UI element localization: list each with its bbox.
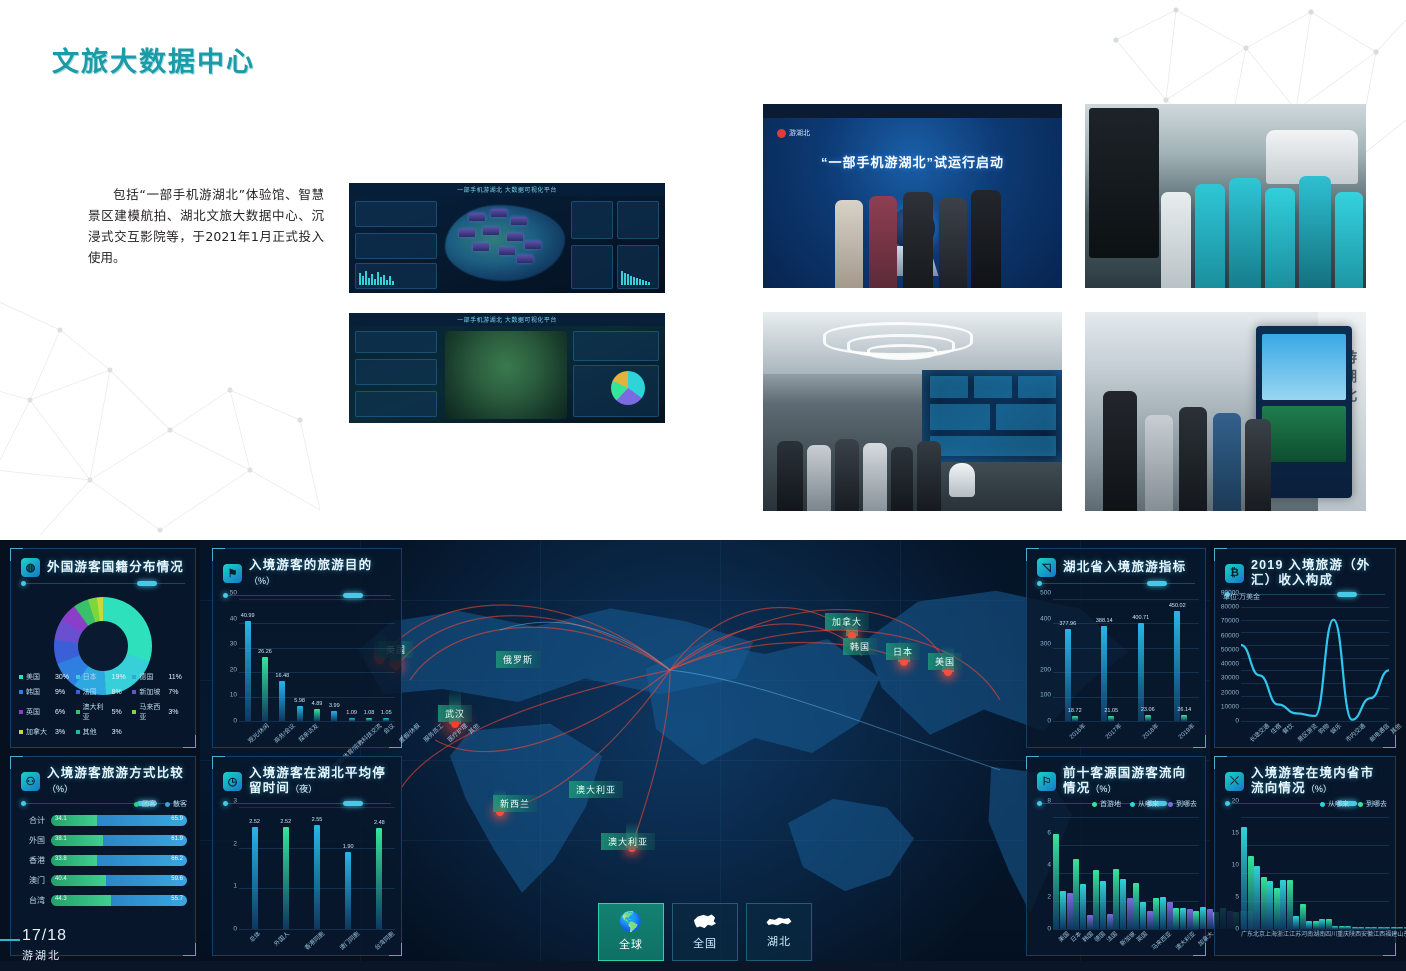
bar-column: 450.0226.14 xyxy=(1174,599,1187,721)
y-tick: 100 xyxy=(1040,692,1051,699)
y-tick: 0 xyxy=(233,718,237,725)
bar-value: 23.06 xyxy=(1141,707,1155,713)
y-tick: 0 xyxy=(1235,718,1239,725)
robot-guide xyxy=(949,463,975,497)
y-tick: 0 xyxy=(233,926,237,933)
bar-segment-san: 65.9 xyxy=(97,815,187,826)
photo-launch-ceremony: 游湖北 “一部手机游湖北”试运行启动 xyxy=(763,104,1062,288)
legend-item: 澳大利亚5% xyxy=(76,702,133,722)
bar-value: 21.05 xyxy=(1104,708,1118,714)
y-axis: 01020304050 xyxy=(213,593,239,721)
legend-item: 日本19% xyxy=(76,672,133,682)
globe-icon: 🌎 xyxy=(619,913,644,932)
panel-header: ◷入境游客在湖北平均停留时间（夜） xyxy=(213,757,401,797)
panel-body: 0102030405040.9926.2616.485.984.893.991.… xyxy=(213,593,401,743)
bar xyxy=(1060,891,1066,929)
legend-item: 法国8% xyxy=(76,687,133,697)
x-tick: 浙江 xyxy=(1277,929,1289,951)
bar xyxy=(1254,866,1260,929)
bar-column: 40.99 xyxy=(245,599,251,721)
chart-legend: 从哪来到哪去 xyxy=(1320,799,1387,809)
bar-column xyxy=(1241,817,1254,929)
legend-item: 英国6% xyxy=(19,702,76,722)
globe-users-icon: ◍ xyxy=(21,558,40,577)
legend-item: 马来西亚3% xyxy=(132,702,189,722)
stacked-bar: 34.165.9 xyxy=(51,815,187,826)
x-tick: 福建 xyxy=(1385,929,1397,951)
row-label: 合计 xyxy=(19,815,45,826)
bar-column: 26.26 xyxy=(262,599,268,721)
x-tick: 2017年 xyxy=(1103,721,1132,750)
thumb-panel xyxy=(571,201,613,239)
bar xyxy=(1241,827,1247,929)
person-walk-icon: ⚐ xyxy=(1037,772,1056,791)
plot-area xyxy=(1241,607,1389,721)
bar xyxy=(1138,623,1144,721)
y-tick: 15 xyxy=(1232,830,1239,837)
body-paragraph: 包括“一部手机游湖北”体验馆、智慧景区建模航拍、湖北文旅大数据中心、沉浸式交互影… xyxy=(88,184,324,268)
panel-title-unit: （%） xyxy=(1306,784,1332,794)
dashboard-region: 俄罗斯英国武汉新西兰澳大利亚澳大利亚韩国日本加拿大美国 🌎全球全国湖北 ◍外国游… xyxy=(0,540,1406,971)
x-tick: 四川 xyxy=(1325,929,1337,951)
x-tick: 广东 xyxy=(1241,929,1253,951)
x-tick: 山东 xyxy=(1397,929,1406,951)
bar-column: 5.98 xyxy=(297,599,303,721)
y-tick: 30000 xyxy=(1221,675,1239,682)
legend-item: 到哪去 xyxy=(1358,799,1387,809)
panel-inbound-income-composition: ₿2019 入境旅游（外汇）收入构成单位:万美金0100002000030000… xyxy=(1214,548,1396,748)
bar-column xyxy=(1267,817,1280,929)
y-tick: 40 xyxy=(230,615,237,622)
bar-value: 5.98 xyxy=(294,698,305,704)
hubei-map-icon xyxy=(766,916,792,929)
panel-header: ◹湖北省入境旅游指标 xyxy=(1027,549,1205,577)
thumb-panel xyxy=(355,201,437,227)
bar-column xyxy=(1093,817,1113,929)
map-tab-全国[interactable]: 全国 xyxy=(672,903,738,961)
y-tick: 3 xyxy=(233,798,237,805)
bar-group xyxy=(1053,817,1199,929)
chart-legend: 团客散客 xyxy=(134,799,187,809)
legend-item: 到哪去 xyxy=(1168,799,1197,809)
bar-column xyxy=(1345,817,1358,929)
y-tick: 200 xyxy=(1040,666,1051,673)
panel-hubei-inbound-index: ◹湖北省入境旅游指标0100200300400500377.9618.72388… xyxy=(1026,548,1206,748)
map-label: 加拿大 xyxy=(825,613,869,630)
bar-column: 1.09 xyxy=(349,599,355,721)
bar xyxy=(1073,859,1079,929)
bar xyxy=(283,827,289,929)
bar xyxy=(331,711,337,721)
x-axis: 美国日本韩国德国法国新加坡英国马来西亚澳大利亚加拿大 xyxy=(1053,929,1199,951)
bar xyxy=(1200,907,1206,929)
x-axis: 总体外国人香港同胞澳门同胞台湾同胞 xyxy=(239,929,395,951)
panel-nationality-donut: ◍外国游客国籍分布情况美国30%日本19%德国11%韩国9%法国8%新加坡7%英… xyxy=(10,548,196,748)
legend-item: 团客 xyxy=(134,799,156,809)
bar-value: 16.48 xyxy=(275,673,289,679)
bar xyxy=(1100,881,1106,929)
chart-legend: 首游地从哪来到哪去 xyxy=(1092,799,1197,809)
bar-column xyxy=(1193,817,1213,929)
bar-column: 2.55 xyxy=(314,807,320,929)
x-tick: 湖南 xyxy=(1313,929,1325,951)
plot-area xyxy=(1241,817,1389,929)
thumb-title: 一部手机游湖北 大数据可视化平台 xyxy=(457,315,557,324)
x-tick: 总体 xyxy=(247,929,271,953)
y-tick: 400 xyxy=(1040,615,1051,622)
stacked-bar: 40.459.6 xyxy=(51,875,187,886)
map-label: 日本 xyxy=(886,643,920,660)
map-tab-全球[interactable]: 🌎全球 xyxy=(598,903,664,961)
thumb-panel xyxy=(355,331,437,353)
plot-area: 2.522.522.551.902.48 xyxy=(239,807,395,929)
bar-value: 18.72 xyxy=(1068,708,1082,714)
thumb-scenic-render xyxy=(445,331,567,419)
plot-area: 40.9926.2616.485.984.893.991.091.081.05 xyxy=(239,599,395,721)
panel-title: 外国游客国籍分布情况 xyxy=(47,560,184,575)
bar xyxy=(1080,884,1086,929)
x-tick: 河南 xyxy=(1301,929,1313,951)
panel-domestic-province-flow: ⤬入境游客在境内省市流向情况（%）从哪来到哪去05101520广东北京上海浙江江… xyxy=(1214,756,1396,956)
y-tick: 10 xyxy=(1232,862,1239,869)
row-label: 香港 xyxy=(19,855,45,866)
bar xyxy=(297,706,303,721)
dashboard-screenshot-2: 一部手机游湖北 大数据可视化平台 xyxy=(349,313,665,423)
panel-title: 入境游客旅游方式比较（%） xyxy=(47,766,185,797)
bar-column: 1.05 xyxy=(383,599,389,721)
bar-column xyxy=(1173,817,1193,929)
bar xyxy=(1267,881,1273,929)
people-icon: ⚇ xyxy=(21,772,40,791)
panel-body: 0100200300400500377.9618.72388.1421.0540… xyxy=(1027,593,1205,743)
bar xyxy=(1174,611,1180,721)
map-label: 武汉 xyxy=(438,705,472,722)
panel-header: ⤬入境游客在境内省市流向情况（%） xyxy=(1215,757,1395,797)
photo-visitors-group xyxy=(1085,104,1366,288)
x-tick: 外国人 xyxy=(272,929,300,957)
y-tick: 70000 xyxy=(1221,618,1239,625)
bar-value: 2.52 xyxy=(280,819,291,825)
x-tick: 陕西 xyxy=(1349,929,1361,951)
legend-item: 新加坡7% xyxy=(132,687,189,697)
panel-body: 01232.522.522.551.902.48总体外国人香港同胞澳门同胞台湾同… xyxy=(213,801,401,951)
panel-divider xyxy=(1037,583,1195,584)
legend-item: 美国30% xyxy=(19,672,76,682)
map-tab-湖北[interactable]: 湖北 xyxy=(746,903,812,961)
thumb-pie xyxy=(611,371,645,405)
bar-value: 4.89 xyxy=(312,701,323,707)
bar-value: 1.05 xyxy=(381,710,392,716)
thumb-title: 一部手机游湖北 大数据可视化平台 xyxy=(457,185,557,194)
bar-column xyxy=(1053,817,1073,929)
y-axis: 05101520 xyxy=(1215,801,1241,929)
y-tick: 40000 xyxy=(1221,661,1239,668)
bar-segment-tuan: 33.8 xyxy=(51,855,97,866)
y-tick: 8 xyxy=(1047,798,1051,805)
row-label: 台湾 xyxy=(19,895,45,906)
x-axis: 2016年2017年2018年2019年 xyxy=(1053,721,1199,743)
photo-kiosk-demo: 游湖北 xyxy=(1085,312,1366,511)
bar-value: 2.55 xyxy=(312,817,323,823)
bar xyxy=(314,709,320,721)
map-scope-tabs[interactable]: 🌎全球全国湖北 xyxy=(598,903,812,961)
page-title: 文旅大数据中心 xyxy=(52,40,255,79)
panel-travel-mode-compare: ⚇入境游客旅游方式比较（%）团客散客合计34.165.9外国38.161.9香港… xyxy=(10,756,196,956)
bar xyxy=(1101,626,1107,721)
bar xyxy=(1093,870,1099,929)
map-label: 澳大利亚 xyxy=(601,833,655,850)
panel-title-unit: （%） xyxy=(1090,784,1116,794)
bottom-strip xyxy=(0,961,1406,971)
thumb-panel xyxy=(617,201,659,239)
x-tick: 江苏 xyxy=(1289,929,1301,951)
chart-up-icon: ◹ xyxy=(1037,558,1056,577)
bar-segment-tuan: 38.1 xyxy=(51,835,103,846)
bar xyxy=(1293,916,1299,929)
bar xyxy=(1113,869,1119,929)
panel-header: ₿2019 入境旅游（外汇）收入构成 xyxy=(1215,549,1395,588)
panel-body: 首游地从哪来到哪去02468美国日本韩国德国法国新加坡英国马来西亚澳大利亚加拿大 xyxy=(1027,801,1205,951)
bar-column xyxy=(1358,817,1371,929)
bar-column: 2.52 xyxy=(283,807,289,929)
legend-item: 德国11% xyxy=(132,672,189,682)
stacked-bar: 38.161.9 xyxy=(51,835,187,846)
bar xyxy=(252,827,258,929)
donut-legend: 美国30%日本19%德国11%韩国9%法国8%新加坡7%英国6%澳大利亚5%马来… xyxy=(19,672,189,737)
legend-item: 加拿大3% xyxy=(19,727,76,737)
thumb-panel xyxy=(355,233,437,259)
row-label: 外国 xyxy=(19,835,45,846)
bar-column xyxy=(1280,817,1293,929)
x-tick: 其他 xyxy=(1388,721,1406,745)
dashboard-screenshot-1: 一部手机游湖北 大数据可视化平台 xyxy=(349,183,665,293)
map-label: 新西兰 xyxy=(493,795,537,812)
clock-icon: ◷ xyxy=(223,772,242,791)
bar xyxy=(1160,897,1166,929)
plot-area xyxy=(1053,817,1199,929)
bar-column: 2.52 xyxy=(252,807,258,929)
thumb-panel xyxy=(573,331,659,361)
plot-area: 377.9618.72388.1421.05400.7123.06450.022… xyxy=(1053,599,1199,721)
map-tab-label: 湖北 xyxy=(767,933,791,949)
panel-body: 从哪来到哪去05101520广东北京上海浙江江苏河南湖南四川重庆陕西安徽江西福建… xyxy=(1215,801,1395,951)
x-tick: 2016年 xyxy=(1067,721,1096,750)
panel-header: ⚇入境游客旅游方式比较（%） xyxy=(11,757,195,797)
y-tick: 500 xyxy=(1040,590,1051,597)
bar-group: 377.9618.72388.1421.05400.7123.06450.022… xyxy=(1053,599,1199,721)
bar xyxy=(345,852,351,929)
bar-column xyxy=(1254,817,1267,929)
x-tick: 安徽 xyxy=(1361,929,1373,951)
stacked-bar: 33.866.2 xyxy=(51,855,187,866)
page-marker: 17/18 游湖北 xyxy=(22,927,67,963)
y-tick: 20000 xyxy=(1221,689,1239,696)
y-tick: 60000 xyxy=(1221,632,1239,639)
bar-column xyxy=(1332,817,1345,929)
bar-column xyxy=(1384,817,1397,929)
bar xyxy=(1065,629,1071,721)
bar-group: 40.9926.2616.485.984.893.991.091.081.05 xyxy=(239,599,395,721)
bar-column xyxy=(1113,817,1133,929)
panel-divider xyxy=(21,583,185,584)
x-axis: 广东北京上海浙江江苏河南湖南四川重庆陕西安徽江西福建山东其他 xyxy=(1241,929,1389,951)
bar-column: 388.1421.05 xyxy=(1101,599,1114,721)
bar xyxy=(1280,880,1286,929)
legend-item: 散客 xyxy=(165,799,187,809)
x-tick: 2019年 xyxy=(1176,721,1205,750)
bar xyxy=(1053,834,1059,929)
photo-exhibition-hall xyxy=(763,312,1062,511)
x-tick: 江西 xyxy=(1373,929,1385,951)
bar-value: 1.90 xyxy=(343,844,354,850)
panel-title: 入境游客在境内省市流向情况（%） xyxy=(1251,766,1385,797)
bar xyxy=(1133,883,1139,929)
y-tick: 50 xyxy=(230,590,237,597)
bar xyxy=(376,828,382,929)
bar-value: 40.99 xyxy=(241,613,255,619)
bar-column xyxy=(1319,817,1332,929)
panel-avg-stay-nights: ◷入境游客在湖北平均停留时间（夜）01232.522.522.551.902.4… xyxy=(212,756,402,956)
table-row: 澳门40.459.6 xyxy=(19,875,187,886)
bar-segment-san: 61.9 xyxy=(103,835,187,846)
bar-column xyxy=(1371,817,1384,929)
bar xyxy=(262,657,268,721)
bar-value: 3.99 xyxy=(329,703,340,709)
bar xyxy=(1173,908,1179,929)
y-tick: 300 xyxy=(1040,641,1051,648)
y-tick: 0 xyxy=(1047,718,1051,725)
y-tick: 10000 xyxy=(1221,703,1239,710)
y-tick: 5 xyxy=(1235,894,1239,901)
map-tab-label: 全球 xyxy=(619,936,643,952)
x-axis: 长途交通住宿餐饮景区游览购物娱乐市内交通邮电通信其他 xyxy=(1241,721,1389,743)
decorative-mesh-left xyxy=(0,270,330,540)
map-label: 俄罗斯 xyxy=(496,651,540,668)
bar-column: 400.7123.06 xyxy=(1138,599,1151,721)
y-tick: 20 xyxy=(230,666,237,673)
bar xyxy=(1120,879,1126,929)
legend-item: 从哪来 xyxy=(1130,799,1159,809)
map-label: 美国 xyxy=(928,653,962,670)
bar xyxy=(1140,902,1146,929)
stacked-bar: 44.355.7 xyxy=(51,895,187,906)
panel-body: 美国30%日本19%德国11%韩国9%法国8%新加坡7%英国6%澳大利亚5%马来… xyxy=(11,593,195,743)
table-row: 外国38.161.9 xyxy=(19,835,187,846)
y-axis: 0100200300400500 xyxy=(1027,593,1053,721)
bar-column: 1.90 xyxy=(345,807,351,929)
bar-segment-san: 59.6 xyxy=(106,875,187,886)
map-label: 韩国 xyxy=(843,638,877,655)
bar-column: 16.48 xyxy=(279,599,285,721)
china-map-icon xyxy=(693,914,717,931)
money-bag-icon: ₿ xyxy=(1225,564,1244,583)
y-tick: 2 xyxy=(233,840,237,847)
x-axis: 观光/休闲商务/会议探亲访友文化/体育/宗教科技交流会议度假/休假服务员工医疗护… xyxy=(239,721,395,743)
bar-column xyxy=(1293,817,1306,929)
bar-segment-tuan: 40.4 xyxy=(51,875,106,886)
bar-column: 1.08 xyxy=(366,599,372,721)
bar-column xyxy=(1133,817,1153,929)
panel-top10-source-flow: ⚐前十客源国游客流向情况（%）首游地从哪来到哪去02468美国日本韩国德国法国新… xyxy=(1026,756,1206,956)
y-tick: 1 xyxy=(233,883,237,890)
bar xyxy=(1319,919,1325,929)
bar-value: 26.14 xyxy=(1177,707,1191,713)
bar xyxy=(1180,908,1186,929)
legend-item: 其他3% xyxy=(76,727,133,737)
panel-header: ◍外国游客国籍分布情况 xyxy=(11,549,195,577)
bar-group xyxy=(1241,817,1389,929)
table-row: 合计34.165.9 xyxy=(19,815,187,826)
y-tick: 20 xyxy=(1232,798,1239,805)
bar-column xyxy=(1306,817,1319,929)
y-axis: 0123 xyxy=(213,801,239,929)
bar-value: 2.52 xyxy=(249,819,260,825)
bar-segment-san: 66.2 xyxy=(97,855,187,866)
thumb-panel xyxy=(355,391,437,417)
bar-value: 1.09 xyxy=(346,710,357,716)
bar-column xyxy=(1153,817,1173,929)
legend-item: 从哪来 xyxy=(1320,799,1349,809)
bar-value: 2.48 xyxy=(374,820,385,826)
bar-column: 2.48 xyxy=(376,807,382,929)
map-label: 澳大利亚 xyxy=(569,781,623,798)
flag-icon: ⚑ xyxy=(223,564,242,583)
bar-column xyxy=(1073,817,1093,929)
bar xyxy=(1193,911,1199,929)
bar xyxy=(245,621,251,721)
panel-title: 入境游客在湖北平均停留时间（夜） xyxy=(249,766,391,797)
table-row: 台湾44.355.7 xyxy=(19,895,187,906)
y-tick: 10 xyxy=(230,692,237,699)
panel-body: 单位:万美金0100002000030000400005000060000700… xyxy=(1215,593,1395,743)
thumb-panel xyxy=(355,359,437,385)
y-axis: 02468 xyxy=(1027,801,1053,929)
bar-column: 377.9618.72 xyxy=(1065,599,1078,721)
bar-segment-tuan: 44.3 xyxy=(51,895,111,906)
y-tick: 90000 xyxy=(1221,590,1239,597)
photo-banner-text: “一部手机游湖北”试运行启动 xyxy=(763,152,1062,171)
panel-title: 湖北省入境旅游指标 xyxy=(1063,560,1186,575)
panel-title: 入境游客的旅游目的（%） xyxy=(249,558,391,589)
y-tick: 6 xyxy=(1047,830,1051,837)
row-label: 澳门 xyxy=(19,875,45,886)
x-tick: 上海 xyxy=(1265,929,1277,951)
panel-title: 2019 入境旅游（外汇）收入构成 xyxy=(1251,558,1385,588)
bar-value: 1.08 xyxy=(364,710,375,716)
shuffle-icon: ⤬ xyxy=(1225,772,1244,791)
legend-item: 韩国9% xyxy=(19,687,76,697)
panel-title-unit: （%） xyxy=(47,784,73,794)
x-tick: 重庆 xyxy=(1337,929,1349,951)
page-number: 17/18 xyxy=(22,927,67,945)
x-tick: 2018年 xyxy=(1140,721,1169,750)
bar xyxy=(314,825,320,929)
legend-item: 首游地 xyxy=(1092,799,1121,809)
panel-title: 前十客源国游客流向情况（%） xyxy=(1063,766,1195,797)
y-tick: 50000 xyxy=(1221,646,1239,653)
panel-title-unit: （夜） xyxy=(290,784,317,794)
photo-logo: 游湖北 xyxy=(777,128,810,138)
y-tick: 4 xyxy=(1047,862,1051,869)
panel-header: ⚑入境游客的旅游目的（%） xyxy=(213,549,401,589)
panel-title-unit: （%） xyxy=(249,576,275,586)
table-row: 香港33.866.2 xyxy=(19,855,187,866)
y-tick: 30 xyxy=(230,641,237,648)
panel-header: ⚐前十客源国游客流向情况（%） xyxy=(1027,757,1205,797)
thumb-panel xyxy=(571,245,613,289)
bar-column: 4.89 xyxy=(314,599,320,721)
bar xyxy=(1306,921,1312,929)
